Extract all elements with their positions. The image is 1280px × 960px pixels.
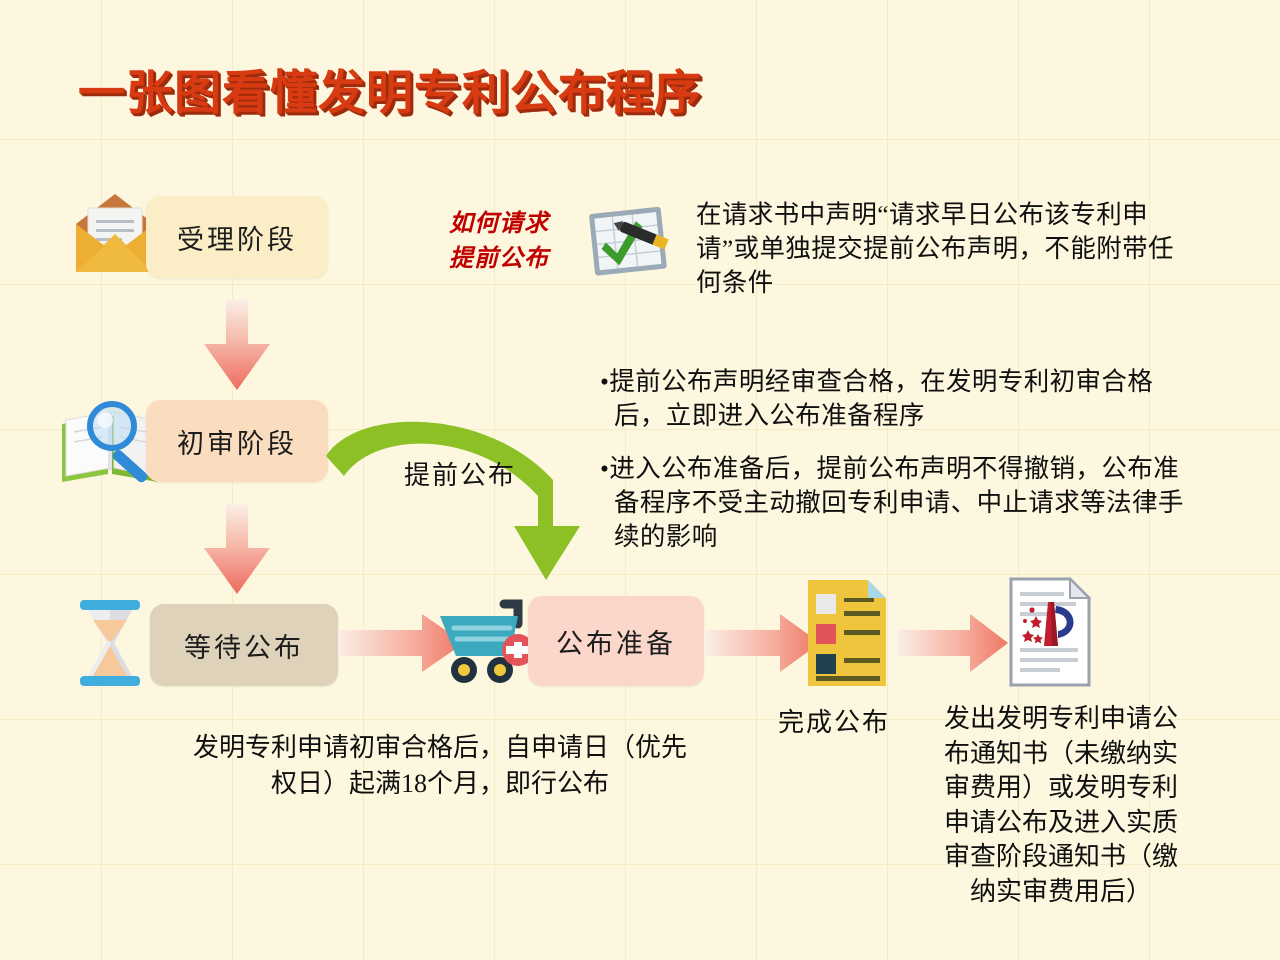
callout-question: 如何请求 提前公布 [424,206,574,276]
flow-arrow-down-1 [200,300,274,392]
label-publication-complete: 完成公布 [778,702,890,739]
bullet-item-2: •进入公布准备后，提前公布声明不得撤销，公布准备程序不受主动撤回专利申请、中止请… [600,452,1194,554]
note-publication-notice: 发出发明专利申请公布通知书（未缴纳实审费用）或发明专利申请公布及进入实质审查阶段… [936,702,1186,909]
stage-box-awaiting-publication[interactable]: 等待公布 [150,604,338,686]
callout-question-line2: 提前公布 [424,241,574,276]
stage-label: 公布准备 [556,622,676,661]
callout-answer-text: 在请求书中声明“请求早日公布该专利申请”或单独提交提前公布声明，不能附带任何条件 [696,198,1192,300]
note-18-months: 发明专利申请初审合格后，自申请日（优先权日）起满18个月，即行公布 [190,730,690,802]
stage-label: 受理阶段 [177,218,297,257]
stage-box-preliminary-review[interactable]: 初审阶段 [146,400,328,482]
page-title: 一张图看懂发明专利公布程序 [78,54,702,123]
stage-label: 初审阶段 [177,422,297,461]
stage-box-accept[interactable]: 受理阶段 [146,196,328,278]
flow-arrow-right-2 [706,612,820,674]
document-checklist-icon [806,578,888,688]
early-publication-curved-arrow [318,408,618,588]
flow-arrow-down-2 [200,504,274,596]
shopping-cart-icon [434,594,542,688]
flow-arrow-right-3 [898,612,1008,674]
stage-label: 等待公布 [184,626,304,665]
branch-label-early-publication: 提前公布 [404,455,516,492]
hourglass-icon [76,596,144,690]
callout-question-line1: 如何请求 [424,206,574,241]
patent-notice-document-icon [1008,576,1092,688]
checklist-pen-icon [582,196,678,288]
bullet-item-1: •提前公布声明经审查合格，在发明专利初审合格后，立即进入公布准备程序 [600,365,1194,433]
stage-box-publication-preparation[interactable]: 公布准备 [528,596,704,686]
infographic-canvas: 一张图看懂发明专利公布程序 受理阶段 如何请求 提前公布 [0,0,1280,960]
